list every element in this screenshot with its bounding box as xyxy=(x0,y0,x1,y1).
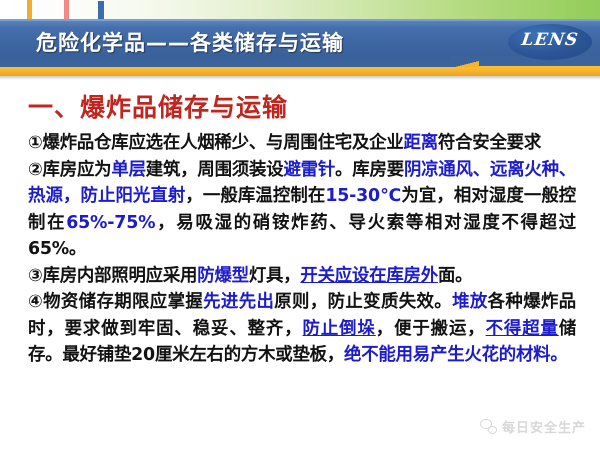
item4-highlight-1: 先进先出 xyxy=(203,292,274,312)
item4-text-2: 原则，防止变质失效。 xyxy=(274,292,452,312)
item4-text-1: ④物资储存期限应掌握 xyxy=(28,292,203,312)
item3-text-1: ③库房内部照明应采用 xyxy=(28,266,197,286)
section-heading: 一、爆炸品储存与运输 xyxy=(28,88,288,124)
item3-highlight-2: 开关应设在库房外 xyxy=(300,266,438,286)
item4-highlight-3: 防止倒垛 xyxy=(303,319,376,339)
item4-highlight-4: 不得超量 xyxy=(486,319,559,339)
item2-highlight-5: 65%-75% xyxy=(66,213,155,233)
top-gradient-strip xyxy=(0,0,600,19)
list-item-4: ④物资储存期限应掌握先进先出原则，防止变质失效。堆放各种爆炸品时，要求做到牢固、… xyxy=(28,289,576,369)
item3-text-3: 面。 xyxy=(438,266,472,286)
body-content: ①爆炸品仓库应选在人烟稀少、与周围住宅及企业距离符合安全要求 ②库房应为单层建筑… xyxy=(28,130,576,369)
slide-root: 危险化学品——各类储存与运输 LENS 一、爆炸品储存与运输 ①爆炸品仓库应选在… xyxy=(0,0,600,450)
item4-text-4: ，便于搬运， xyxy=(376,319,486,339)
item2-text-4: ，一般库温控制在 xyxy=(185,186,325,206)
list-item-1: ①爆炸品仓库应选在人烟稀少、与周围住宅及企业距离符合安全要求 xyxy=(28,130,576,157)
accent-tick-red xyxy=(64,0,69,19)
accent-tick-orange xyxy=(27,0,32,19)
item4-highlight-2: 堆放 xyxy=(452,292,488,312)
item2-text-2: 建筑，周围须装设 xyxy=(146,160,284,180)
item4-highlight-5: 绝不能用易产生火花的材料。 xyxy=(344,345,567,365)
list-item-2: ②库房应为单层建筑，周围须装设避雷针。库房要阴凉通风、远离火种、热源，防止阳光直… xyxy=(28,157,576,263)
item2-text-1: ②库房应为 xyxy=(28,160,111,180)
item2-highlight-4: 15-30℃ xyxy=(325,186,401,206)
item2-highlight-1: 单层 xyxy=(111,160,145,180)
brand-logo-lens: LENS xyxy=(513,30,588,50)
item2-highlight-2: 避雷针 xyxy=(283,160,335,180)
item3-highlight-1: 防爆型 xyxy=(197,266,249,286)
header-shadow-line xyxy=(0,76,600,80)
list-item-3: ③库房内部照明应采用防爆型灯具，开关应设在库房外面。 xyxy=(28,263,576,290)
item1-text-1: ①爆炸品仓库应选在人烟稀少、与周围住宅及企业 xyxy=(28,133,404,153)
item3-text-2: 灯具， xyxy=(249,266,301,286)
wechat-icon xyxy=(480,419,497,434)
watermark-label: 每日安全生产 xyxy=(502,417,586,436)
item1-highlight-1: 距离 xyxy=(404,133,438,153)
slide-title: 危险化学品——各类储存与运输 xyxy=(36,27,344,57)
orange-divider-notch xyxy=(0,61,460,67)
item2-text-3: 。库房要 xyxy=(335,160,404,180)
orange-divider-diagonal xyxy=(455,61,479,67)
watermark: 每日安全生产 xyxy=(480,417,586,436)
item1-text-2: 符合安全要求 xyxy=(438,133,541,153)
orange-divider-bar xyxy=(0,66,600,76)
